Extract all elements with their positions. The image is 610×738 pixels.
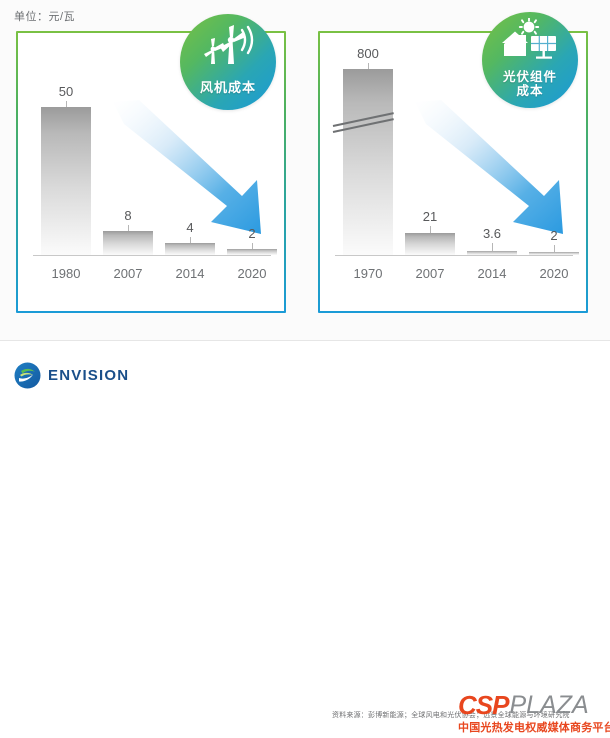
bar-slot-1: 21 (403, 55, 457, 255)
category-label: 1970 (341, 266, 395, 281)
category-label: 2020 (527, 266, 581, 281)
bar-value: 800 (341, 46, 395, 61)
cspplaza-logo: CSP PLAZA 中国光热发电权威媒体商务平台 (458, 692, 604, 738)
wind-turbine-icon (180, 22, 276, 68)
bar-tick (554, 245, 555, 252)
bar-value: 3.6 (465, 226, 519, 241)
category-labels-solar: 1970 2007 2014 2020 (335, 266, 573, 288)
footer-divider (0, 340, 610, 341)
bar-slot-1: 8 (101, 55, 155, 255)
badge-solar-label-line2: 成本 (482, 84, 578, 98)
bar-rect (165, 243, 215, 255)
bar-rect (405, 233, 455, 255)
category-label: 2007 (101, 266, 155, 281)
bar-tick (128, 225, 129, 231)
chart-baseline (335, 255, 573, 256)
bar-slot-0: 800 (341, 55, 395, 255)
bar-rect (103, 231, 153, 255)
bar-slot-0: 50 (39, 55, 93, 255)
category-label: 2007 (403, 266, 457, 281)
unit-label: 单位：元/瓦 (14, 8, 75, 24)
category-label: 2020 (225, 266, 279, 281)
category-label: 2014 (163, 266, 217, 281)
footer: ENVISION 资料来源：彭博新能源；全球风电和光伏协会；远景全球能源与环境研… (0, 340, 610, 404)
bar-tick (190, 237, 191, 243)
envision-wordmark: ENVISION (48, 367, 129, 384)
bar-tick (66, 101, 67, 107)
badge-wind-label-line1: 风机成本 (200, 80, 256, 95)
chart-baseline (33, 255, 271, 256)
badge-wind-cost: 风机成本 (180, 14, 276, 110)
cspplaza-secondary: PLAZA (509, 694, 588, 718)
cspplaza-wordmark: CSP PLAZA (458, 692, 604, 718)
content-area: 单位：元/瓦 (0, 0, 610, 340)
solar-panel-icon (482, 18, 578, 64)
category-label: 2014 (465, 266, 519, 281)
cspplaza-tagline: 中国光热发电权威媒体商务平台 (458, 719, 604, 735)
envision-logo: ENVISION (14, 360, 129, 390)
bar-rect (343, 69, 393, 255)
badge-solar-label-line1: 光伏组件 (482, 70, 578, 84)
badge-solar-cost: 光伏组件 成本 (482, 12, 578, 108)
bar-value: 8 (101, 208, 155, 223)
badge-wind-label: 风机成本 (180, 81, 276, 96)
category-labels-wind: 1980 2007 2014 2020 (33, 266, 271, 288)
bar-rect (41, 107, 91, 255)
bar-tick (368, 63, 369, 69)
bar-tick (430, 226, 431, 233)
bar-tick (492, 243, 493, 251)
bar-tick (252, 243, 253, 249)
envision-mark-icon (14, 362, 41, 389)
infographic-slide: 单位：元/瓦 (0, 0, 610, 404)
category-label: 1980 (39, 266, 93, 281)
bar-value: 50 (39, 84, 93, 99)
bar-value: 4 (163, 220, 217, 235)
bar-value: 2 (527, 228, 581, 243)
bar-value: 21 (403, 209, 457, 224)
badge-solar-label: 光伏组件 成本 (482, 70, 578, 98)
bar-value: 2 (225, 226, 279, 241)
cspplaza-primary: CSP (458, 693, 508, 718)
